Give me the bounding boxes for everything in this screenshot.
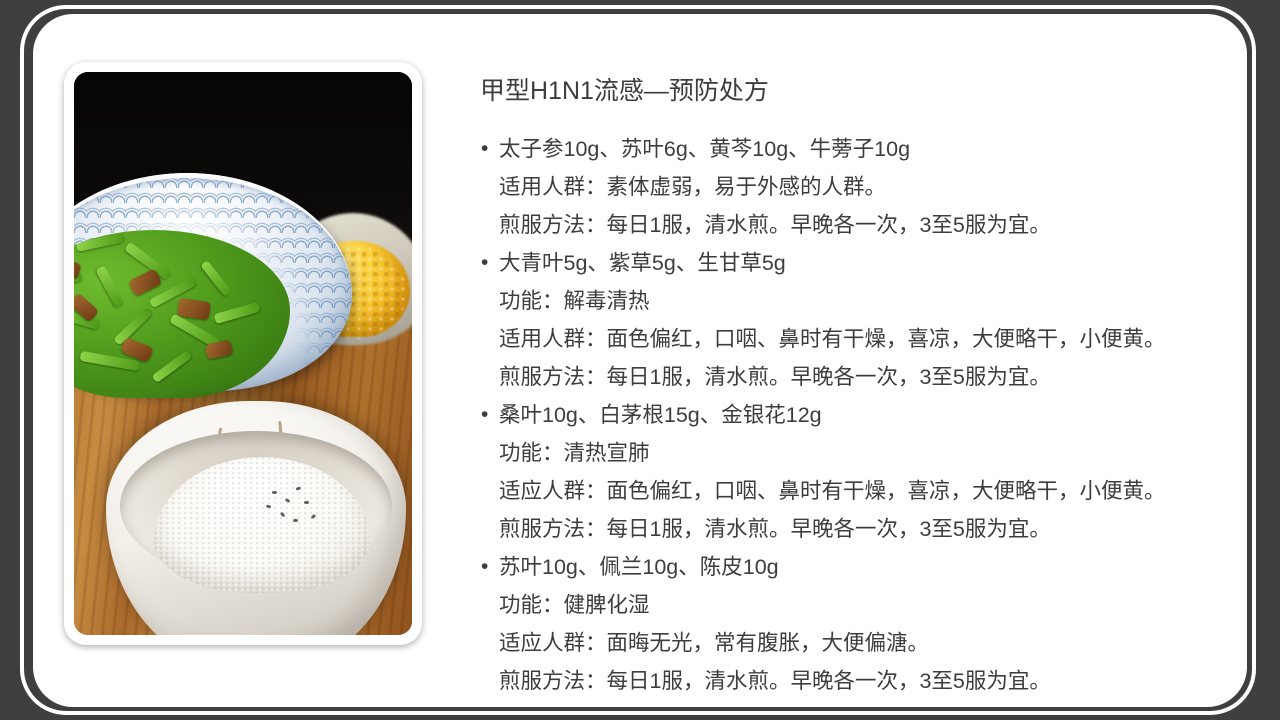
prescription-function: 功能：清热宣肺 <box>499 434 1233 472</box>
prescription-audience: 适应人群：面晦无光，常有腹胀，大便偏溏。 <box>499 624 1233 662</box>
list-item: • 大青叶5g、紫草5g、生甘草5g 功能：解毒清热 适用人群：面色偏红，口咽、… <box>473 244 1233 396</box>
food-photo-frame <box>64 62 422 645</box>
prescription-audience: 适用人群：素体虚弱，易于外感的人群。 <box>499 168 1233 206</box>
prescription-method: 煎服方法：每日1服，清水煎。早晚各一次，3至5服为宜。 <box>499 358 1233 396</box>
prescription-herbs: 大青叶5g、紫草5g、生甘草5g <box>499 244 1233 282</box>
prescription-method: 煎服方法：每日1服，清水煎。早晚各一次，3至5服为宜。 <box>499 510 1233 548</box>
prescription-function: 功能：健脾化湿 <box>499 586 1233 624</box>
bullet-marker-icon: • <box>473 130 499 168</box>
list-item: • 苏叶10g、佩兰10g、陈皮10g 功能：健脾化湿 适应人群：面晦无光，常有… <box>473 548 1233 700</box>
prescription-herbs: 太子参10g、苏叶6g、黄芩10g、牛蒡子10g <box>499 130 1233 168</box>
prescription-text-column: 甲型H1N1流感—预防处方 • 太子参10g、苏叶6g、黄芩10g、牛蒡子10g… <box>473 74 1233 700</box>
prescription-method: 煎服方法：每日1服，清水煎。早晚各一次，3至5服为宜。 <box>499 662 1233 700</box>
prescription-herbs: 苏叶10g、佩兰10g、陈皮10g <box>499 548 1233 586</box>
page-title: 甲型H1N1流感—预防处方 <box>480 74 1233 108</box>
slide-content-card: 甲型H1N1流感—预防处方 • 太子参10g、苏叶6g、黄芩10g、牛蒡子10g… <box>33 14 1247 707</box>
list-item: • 桑叶10g、白茅根15g、金银花12g 功能：清热宣肺 适应人群：面色偏红，… <box>473 396 1233 548</box>
prescription-list: • 太子参10g、苏叶6g、黄芩10g、牛蒡子10g 适用人群：素体虚弱，易于外… <box>473 130 1233 700</box>
bullet-marker-icon: • <box>473 396 499 434</box>
prescription-herbs: 桑叶10g、白茅根15g、金银花12g <box>499 396 1233 434</box>
bullet-marker-icon: • <box>473 244 499 282</box>
list-item-lines: 桑叶10g、白茅根15g、金银花12g 功能：清热宣肺 适应人群：面色偏红，口咽… <box>499 396 1233 548</box>
list-item-lines: 苏叶10g、佩兰10g、陈皮10g 功能：健脾化湿 适应人群：面晦无光，常有腹胀… <box>499 548 1233 700</box>
list-item: • 太子参10g、苏叶6g、黄芩10g、牛蒡子10g 适用人群：素体虚弱，易于外… <box>473 130 1233 244</box>
list-item-lines: 太子参10g、苏叶6g、黄芩10g、牛蒡子10g 适用人群：素体虚弱，易于外感的… <box>499 130 1233 244</box>
bullet-marker-icon: • <box>473 548 499 586</box>
prescription-audience: 适应人群：面色偏红，口咽、鼻时有干燥，喜凉，大便略干，小便黄。 <box>499 472 1233 510</box>
prescription-audience: 适用人群：面色偏红，口咽、鼻时有干燥，喜凉，大便略干，小便黄。 <box>499 320 1233 358</box>
food-photo <box>74 72 412 635</box>
prescription-function: 功能：解毒清热 <box>499 282 1233 320</box>
prescription-method: 煎服方法：每日1服，清水煎。早晚各一次，3至5服为宜。 <box>499 206 1233 244</box>
slide-root: 甲型H1N1流感—预防处方 • 太子参10g、苏叶6g、黄芩10g、牛蒡子10g… <box>0 0 1280 720</box>
list-item-lines: 大青叶5g、紫草5g、生甘草5g 功能：解毒清热 适用人群：面色偏红，口咽、鼻时… <box>499 244 1233 396</box>
